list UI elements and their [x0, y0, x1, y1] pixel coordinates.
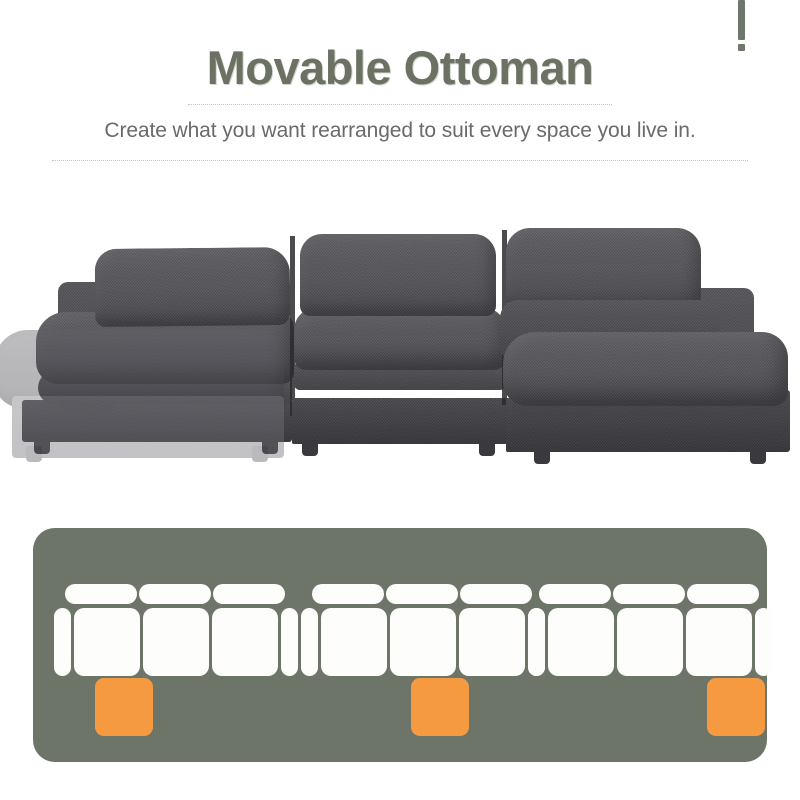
back-cushion: [139, 584, 211, 604]
back-cushion: [65, 584, 137, 604]
ghost-ottoman-overlay: [0, 330, 284, 470]
right-armrest: [755, 608, 772, 676]
exclamation-bar: [738, 0, 745, 40]
ghost-sofa-foot: [26, 446, 42, 462]
seat-cushion: [459, 608, 525, 676]
seat-cushion: [390, 608, 456, 676]
configuration-panel: [33, 528, 767, 762]
sofa-foot: [534, 448, 550, 464]
ghost-ottoman-base: [12, 396, 284, 458]
config-ottoman-left[interactable]: [54, 584, 269, 724]
back-cushion: [460, 584, 532, 604]
seat-cushion: [143, 608, 209, 676]
seat-cushion: [617, 608, 683, 676]
seat-cushion: [212, 608, 278, 676]
sofa-foot: [302, 440, 318, 456]
center-module-base: [292, 398, 507, 444]
left-armrest: [54, 608, 71, 676]
ghost-sofa-foot: [252, 446, 268, 462]
config-ottoman-right[interactable]: [528, 584, 743, 724]
sofa-photo: [0, 200, 800, 500]
left-armrest: [528, 608, 545, 676]
ottoman-module[interactable]: [411, 678, 469, 736]
seat-cushion: [548, 608, 614, 676]
page-title: Movable Ottoman: [0, 44, 800, 91]
ottoman-module[interactable]: [707, 678, 765, 736]
divider-bottom: [52, 160, 748, 161]
config-ottoman-center[interactable]: [301, 584, 516, 724]
ottoman-module[interactable]: [95, 678, 153, 736]
page-subtitle: Create what you want rearranged to suit …: [0, 118, 800, 143]
ottoman-cushion: [503, 332, 788, 406]
back-cushion: [687, 584, 759, 604]
seat-cushion: [686, 608, 752, 676]
back-cushion: [539, 584, 611, 604]
center-module-seat-cushion: [294, 308, 506, 370]
back-cushion: [312, 584, 384, 604]
back-cushion: [613, 584, 685, 604]
back-cushion: [213, 584, 285, 604]
sofa-foot: [750, 448, 766, 464]
center-module-back-pillow: [300, 234, 496, 316]
left-module-back-pillow: [95, 247, 291, 327]
seat-cushion: [321, 608, 387, 676]
sofa-foot: [479, 440, 495, 456]
back-cushion: [386, 584, 458, 604]
right-module-back-pillow: [506, 228, 701, 310]
header-section: Movable Ottoman Create what you want rea…: [0, 0, 800, 200]
divider-top: [188, 104, 612, 105]
right-armrest: [281, 608, 298, 676]
left-armrest: [301, 608, 318, 676]
seat-cushion: [74, 608, 140, 676]
